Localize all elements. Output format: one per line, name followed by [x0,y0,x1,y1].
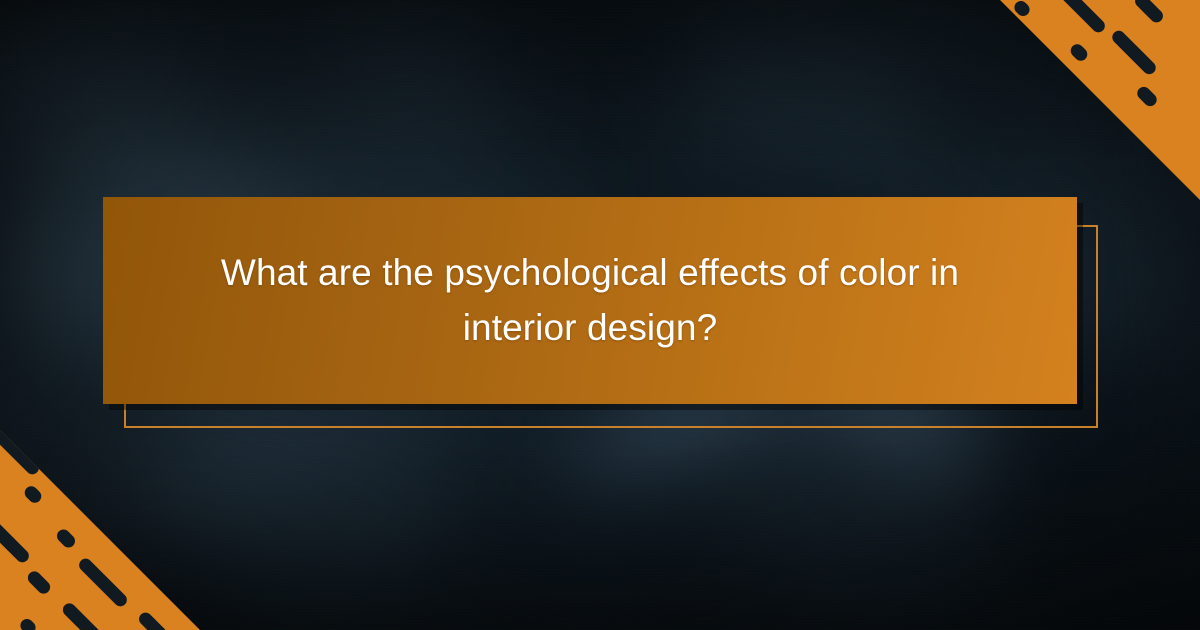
corner-dash-pattern [1000,0,1200,200]
question-card-canvas: What are the psychological effects of co… [0,0,1200,630]
corner-triangle-icon [0,430,200,630]
corner-triangle-icon [1000,0,1200,200]
corner-decoration-top-right [1000,0,1200,200]
page-title: What are the psychological effects of co… [200,246,980,355]
corner-dash-pattern [0,430,200,630]
question-banner: What are the psychological effects of co… [103,197,1077,404]
corner-decoration-bottom-left [0,430,200,630]
